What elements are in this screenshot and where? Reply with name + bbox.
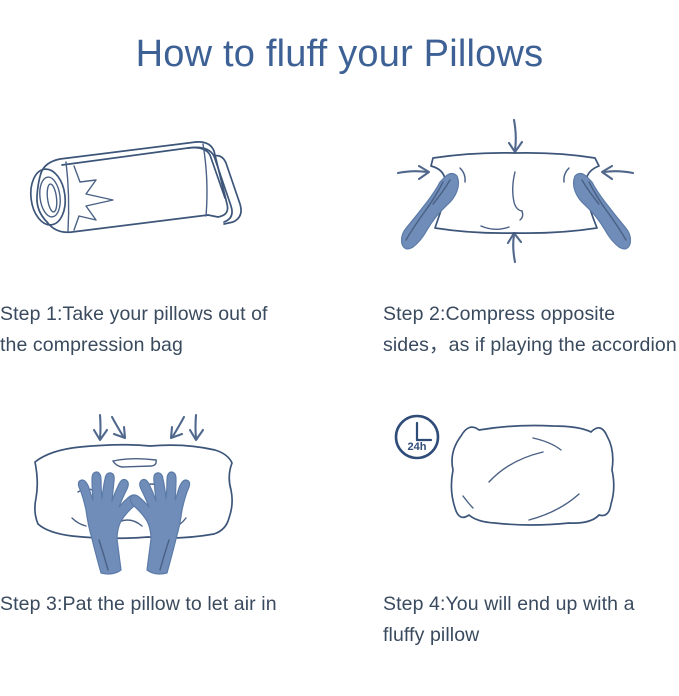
arrow-up-icon: [508, 233, 521, 262]
step-3-illustration: [0, 400, 296, 585]
arrow-down-right-secondary-icon: [171, 417, 184, 438]
step-1-illustration: [0, 110, 296, 295]
clock-24h-badge: 24h: [396, 416, 438, 458]
arrow-down-left-icon: [94, 415, 107, 440]
fluffy-pillow-icon: 24h: [383, 400, 679, 585]
step-2-illustration: [383, 110, 679, 295]
step-card-1: Step 1:Take your pillows out of the comp…: [0, 110, 296, 361]
step-card-4: 24h Step 4:You will end up with a fluffy…: [383, 400, 679, 651]
steps-grid: Step 1:Take your pillows out of the comp…: [0, 110, 679, 696]
arrow-down-icon: [509, 120, 522, 152]
infographic-page: How to fluff your Pillows: [0, 0, 679, 696]
arrow-left-icon: [602, 166, 633, 179]
hands-compressing-pillow-icon: [383, 110, 679, 295]
rolled-compressed-pillow-icon: [0, 110, 296, 295]
step-2-caption: Step 2:Compress opposite sides，as if pla…: [383, 299, 679, 361]
arrow-down-left-secondary-icon: [112, 417, 125, 438]
step-4-illustration: 24h: [383, 400, 679, 585]
step-card-2: Step 2:Compress opposite sides，as if pla…: [383, 110, 679, 361]
clock-badge-label: 24h: [408, 441, 427, 453]
step-card-3: Step 3:Pat the pillow to let air in: [0, 400, 296, 620]
step-4-caption: Step 4:You will end up with a fluffy pil…: [383, 589, 679, 651]
arrow-down-right-icon: [190, 415, 203, 440]
page-title: How to fluff your Pillows: [0, 29, 679, 79]
step-3-caption: Step 3:Pat the pillow to let air in: [0, 589, 296, 620]
hands-patting-pillow-icon: [0, 400, 296, 585]
arrow-right-icon: [398, 166, 429, 179]
step-1-caption: Step 1:Take your pillows out of the comp…: [0, 299, 296, 361]
